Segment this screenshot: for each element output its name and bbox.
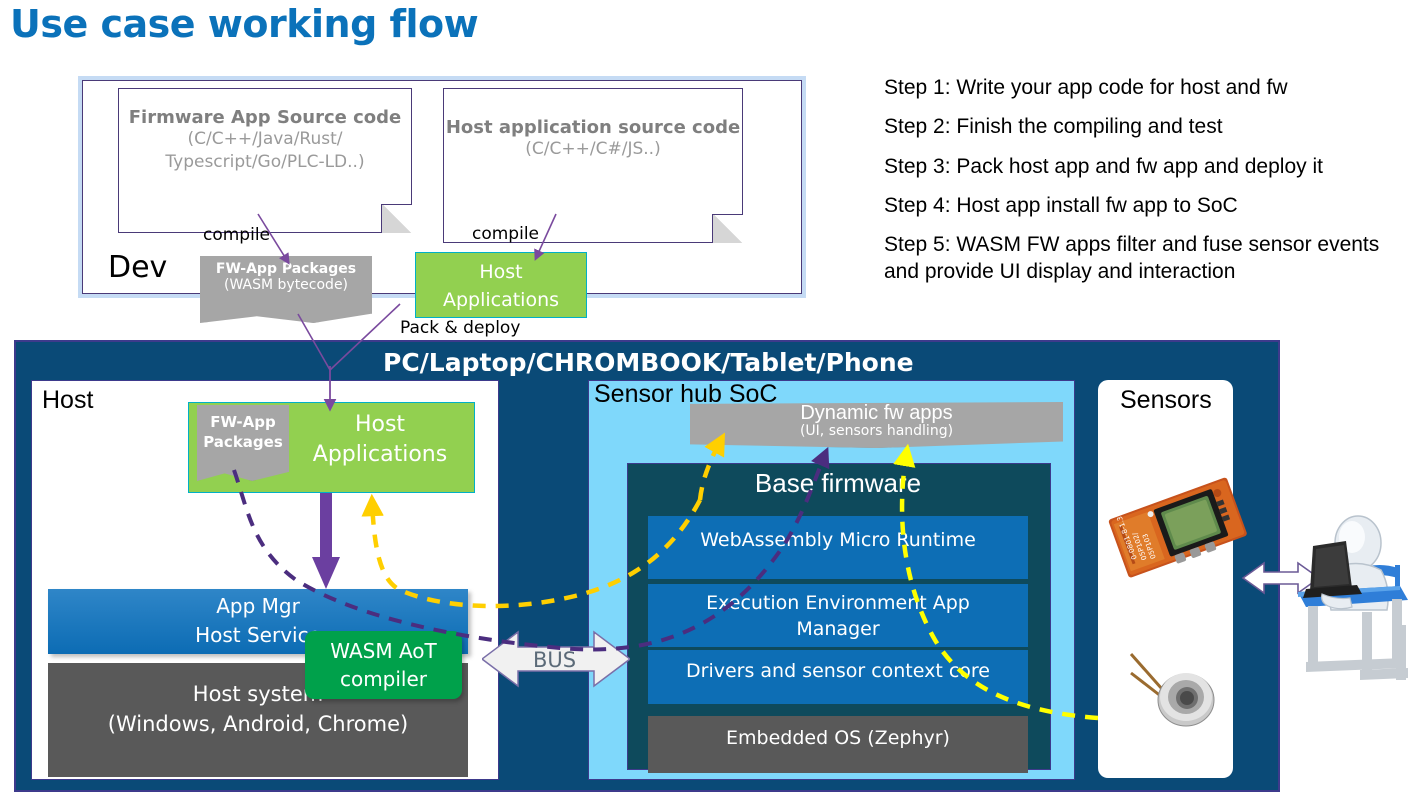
- fw-app-packages-dev-line1: FW-App Packages: [200, 261, 372, 277]
- fw-app-packages-host-line2: Packages: [197, 433, 289, 453]
- bar-drivers-and-sensor-context-core: Drivers and sensor context core: [648, 650, 1028, 704]
- fw-app-packages-host: FW-App Packages: [197, 405, 289, 481]
- sensors-label: Sensors: [1120, 386, 1212, 415]
- dev-label: Dev: [108, 250, 167, 285]
- steps-list: Step 1: Write your app code for host and…: [884, 74, 1404, 298]
- step-item: Step 4: Host app install fw app to SoC: [884, 192, 1404, 219]
- host-source-title: Host application source code: [444, 117, 742, 138]
- host-source-box: Host application source code (C/C++/C#/J…: [443, 88, 743, 243]
- firmware-source-sub1: (C/C++/Java/Rust/: [119, 128, 411, 151]
- firmware-source-box: Firmware App Source code (C/C++/Java/Rus…: [118, 88, 412, 233]
- host-applications-line2: Applications: [300, 440, 460, 470]
- host-source-sub1: (C/C++/C#/JS..): [444, 138, 742, 161]
- bar-eeam-line2: Manager: [648, 617, 1028, 643]
- firmware-source-sub2: Typescript/Go/PLC-LD..): [119, 151, 411, 174]
- bar-webassembly-micro-runtime: WebAssembly Micro Runtime: [648, 516, 1028, 579]
- fw-app-packages-dev-line2: (WASM bytecode): [200, 277, 372, 293]
- compile-label-host: compile: [472, 224, 539, 244]
- dynamic-fw-apps-line2: (UI, sensors handling): [690, 423, 1063, 439]
- step-item: Step 3: Pack host app and fw app and dep…: [884, 153, 1404, 180]
- bar-embedded-os: Embedded OS (Zephyr): [648, 716, 1028, 773]
- host-applications-dev-line2: Applications: [416, 287, 586, 315]
- wasm-aot-line1: WASM AoT: [305, 637, 462, 665]
- step-item: Step 1: Write your app code for host and…: [884, 74, 1404, 101]
- bar-execution-environment-app-manager: Execution Environment App Manager: [648, 584, 1028, 647]
- wasm-aot-compiler-block: WASM AoT compiler: [305, 631, 462, 699]
- step-item: Step 5: WASM FW apps filter and fuse sen…: [884, 231, 1404, 286]
- host-applications-dev-line1: Host: [416, 259, 586, 287]
- person-at-laptop-icon: [1298, 516, 1408, 680]
- sensors-card: [1098, 380, 1233, 778]
- fw-app-packages-dev: FW-App Packages (WASM bytecode): [200, 256, 372, 323]
- deploy-down-arrow-icon: [312, 493, 340, 589]
- host-system-line2: (Windows, Android, Chrome): [48, 709, 468, 739]
- wasm-aot-line2: compiler: [305, 665, 462, 693]
- host-applications-block-text: Host Applications: [300, 410, 460, 469]
- firmware-source-title: Firmware App Source code: [119, 107, 411, 128]
- page-curl-icon: [712, 214, 743, 243]
- fw-app-packages-host-line1: FW-App: [197, 413, 289, 433]
- host-applications-dev: Host Applications: [415, 252, 587, 318]
- bar-eeam-line1: Execution Environment App: [648, 591, 1028, 617]
- base-firmware-title: Base firmware: [627, 468, 1049, 499]
- pack-deploy-label: Pack & deploy: [400, 318, 520, 338]
- step-item: Step 2: Finish the compiling and test: [884, 113, 1404, 140]
- page-curl-icon: [381, 204, 412, 233]
- platform-title: PC/Laptop/CHROMBOOK/Tablet/Phone: [383, 348, 914, 377]
- dynamic-fw-apps-block: Dynamic fw apps (UI, sensors handling): [690, 402, 1063, 448]
- page-title: Use case working flow: [10, 2, 478, 46]
- host-applications-line1: Host: [300, 410, 460, 440]
- compile-label-firmware: compile: [203, 225, 270, 245]
- app-mgr-line1: App Mgr: [48, 592, 468, 621]
- dynamic-fw-apps-line1: Dynamic fw apps: [690, 402, 1063, 425]
- bus-label: BUS: [533, 648, 576, 672]
- host-label: Host: [42, 386, 93, 415]
